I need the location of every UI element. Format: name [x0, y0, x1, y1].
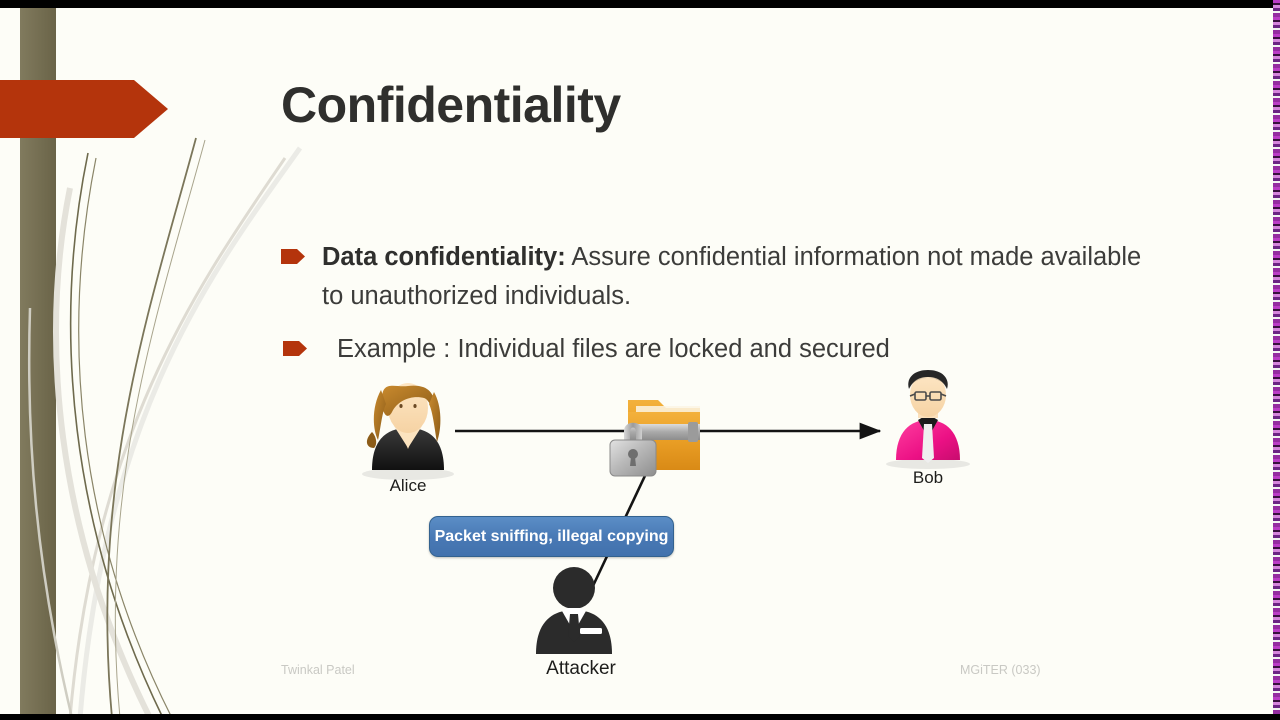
- attacker-silhouette-icon: [536, 567, 612, 654]
- attack-callout-box: Packet sniffing, illegal copying: [429, 516, 674, 557]
- male-user-icon: [886, 370, 970, 469]
- female-user-icon: [362, 383, 454, 480]
- title-accent-banner: [0, 80, 168, 138]
- footer-institution: MGiTER (033): [960, 663, 1041, 677]
- page-title: Confidentiality: [281, 76, 621, 134]
- footer-author: Twinkal Patel: [281, 663, 355, 677]
- bullet-lead-label: Data confidentiality:: [322, 243, 566, 271]
- locked-folder-icon: [610, 400, 700, 476]
- bullet-arrow-icon: [281, 249, 305, 264]
- bullet-arrow-icon: [283, 341, 307, 356]
- video-edge-artifact: [1273, 0, 1280, 720]
- bullet-text: Data confidentiality: Assure confidentia…: [322, 238, 1151, 316]
- actor-label-alice: Alice: [356, 476, 460, 496]
- letterbox-bottom-bar: [0, 714, 1280, 720]
- actor-label-attacker: Attacker: [519, 658, 643, 680]
- bullet-item-example: Example : Individual files are locked an…: [283, 330, 1043, 369]
- letterbox-top-bar: [0, 0, 1280, 8]
- actor-label-bob: Bob: [876, 468, 980, 488]
- presentation-slide: Confidentiality Data confidentiality: As…: [0, 8, 1273, 718]
- video-frame: Confidentiality Data confidentiality: As…: [0, 0, 1280, 720]
- bullet-text: Example : Individual files are locked an…: [337, 330, 890, 369]
- bullet-item-data-confidentiality: Data confidentiality: Assure confidentia…: [281, 238, 1151, 316]
